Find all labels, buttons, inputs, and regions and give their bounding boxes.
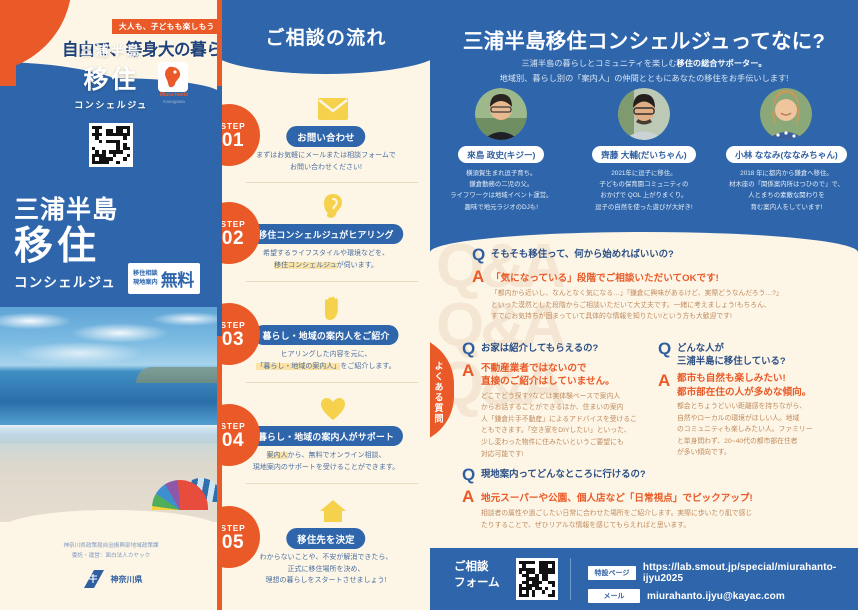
avatar [475,88,527,140]
answer-body-line2: 自然やローカルの環境がほしい人。地域 [677,413,813,425]
bio-line4: 趣味で地元ラジオのDJも! [431,202,571,213]
answer-body-line4: と単身問わず、20~40代の都市部在住者 [677,436,813,448]
contact-row-website: 特設ページ https://lab.smout.jp/special/miura… [588,562,858,584]
bio-line3: 人とまちの素敵な関わりを [716,190,856,201]
faq-answer: A 不動産業者ではないので 直接のご紹介はしていません。 どこでどう探す?などは… [462,362,656,460]
step-desc-line3: 理想の暮らしをスタートさせましょう! [228,575,424,587]
faq-section: Q&A Q&A Q&A よくある質問 Q そもそも移住って、何から始めればいいの… [430,232,858,548]
step-desc-line1: ヒアリングした内容を元に、 [228,349,424,361]
bio-line4: 育む案内人をしています! [716,202,856,213]
step-desc-line2: 現地案内のサポートを受けることができます。 [228,462,424,474]
step-desc-01: まずはお気軽にメールまたは相談フォームで お問い合わせください! [228,150,424,173]
step-desc-line1: まずはお気軽にメールまたは相談フォームで [228,150,424,162]
faq-answer-body: 「都内から近いし、なんとなく気になる…」「鎌倉に興味があるけど、実際どうなんだろ… [491,288,783,323]
subtitle-line1-a: 三浦半島の暮らしとコミュニティを楽しむ [521,59,676,68]
step-word: STEP [222,320,246,330]
step-pill-01: お問い合わせ [286,126,365,147]
step-separator [246,182,418,183]
step-number: 04 [222,431,244,450]
answer-mark-letter: A [658,372,671,389]
beach-photo [0,307,222,522]
answer-body-line1: 相談者の属性や過ごしたい日常に合わせた場所をご紹介します。実際に歩いたり肌で感じ [481,508,753,520]
bio-line1: 横須賀生まれ逗子育ち。 [431,168,571,179]
steps-heading: ご相談の流れ [222,23,430,50]
brochure-page: 大人も、子どもも楽しもう 自由で、等身大の暮らし。 Miura-hanto Ka… [0,0,858,610]
photo-overlay-line1: 三浦半島 [0,40,222,59]
heart-icon [318,396,348,422]
faq-answer: A 地元スーパーや公園、個人店など「日常視点」でピックアップ! 相談者の属性や過… [462,488,852,531]
faq-answer: A 都市も自然も楽しみたい! 都市部在住の人が多めな傾向。 都会とちょうどいい距… [658,372,852,459]
cover-title-line3: コンシェルジュ [14,271,118,291]
steps-panel: ご相談の流れ STEP 01 お問い合わせ まずはお気軽にメールまたは相談フォー… [222,0,430,610]
list-item: 小林 ななみ(ななみちゃん) 2018 年に都内から鎌倉へ移住。 材木座の「関係… [715,88,858,213]
step-desc-highlight: 移住コンシェルジュ [274,262,337,269]
concierge-bio: 横須賀生まれ逗子育ち。 鎌倉勤務の二児の父。 ライフワークは地域イベント運営。 … [431,168,571,213]
bio-line2: 鎌倉勤務の二児の父。 [431,179,571,190]
bio-line4: 逗子の自然を使った遊びが大好き! [574,202,714,213]
step-separator [246,382,418,383]
faq-question: Q 現地案内ってどんなところに行けるの? [462,466,852,483]
step-word: STEP [222,421,246,431]
step-pill-05: 移住先を決定 [286,528,365,549]
faq-question-text: 現地案内ってどんなところに行けるの? [481,466,646,481]
website-chip-label: 特設ページ [588,566,636,580]
concierge-name: 齊藤 大輔(だいちゃん) [592,146,695,163]
contact-label-line1: ご相談 [454,560,500,576]
question-mark-letter: Q [658,340,671,357]
faq-answer-head-line1: 都市も自然も楽しみたい! [677,372,813,385]
left-panel-blue-edge [217,86,222,336]
step-desc-highlight: 「暮らし・地域の案内人」 [256,363,340,370]
faq-item: Q そもそも移住って、何から始めればいいの? A 「気になっている」段階でご相談… [472,246,844,323]
faq-question: Q そもそも移住って、何から始めればいいの? [472,246,844,263]
surf-line [0,425,222,441]
house-icon [318,498,348,524]
contact-form-label: ご相談 フォーム [454,560,500,591]
concierge-bio: 2018 年に都内から鎌倉へ移住。 材木座の「関係案内所はつひので」で、 人とま… [716,168,856,213]
avatar [760,88,812,140]
step-desc-02: 希望するライフスタイルや環境などを、 移住コンシェルジュが伺います。 [228,248,424,271]
step-word: STEP [222,523,246,533]
step-pill-02: 移住コンシェルジュがヒアリング [249,224,403,244]
cover-title: 三浦半島 移住 コンシェルジュ [14,196,118,291]
answer-mark-letter: A [462,362,475,379]
credit-line2: 委託・運営：面白法人カヤック [0,552,222,562]
step-desc-line2: 「暮らし・地域の案内人」をご紹介します。 [228,361,424,373]
faq-answer: A 「気になっている」段階でご相談いただいてOKです! 「都内から近いし、なんと… [472,268,844,323]
headland-shape [136,367,222,383]
hand-icon [318,295,348,321]
info-panel-title: 三浦半島移住コンシェルジュってなに? [430,24,858,54]
contact-label-line2: フォーム [454,576,500,592]
step-desc-tail: をご紹介します。 [340,363,395,370]
free-badge: 移住相談 現地案内 無料 [128,263,200,294]
credit-text: 神奈川県政策局自治振興部地域政策課 委託・運営：面白法人カヤック [0,542,222,561]
subtitle-line1: 三浦半島の暮らしとコミュニティを楽しむ移住の総合サポーター。 [430,56,858,71]
bio-line1: 2021年に逗子に移住。 [574,168,714,179]
step-desc-04: 案内人から、無料でオンライン相談、 現地案内のサポートを受けることができます。 [228,450,424,473]
answer-body-line3: すでにお気持ちが固まっていて具体的な情報を知りたい!という方も大歓迎です! [491,311,783,323]
free-badge-big: 無料 [161,266,194,291]
step-desc-03: ヒアリングした内容を元に、 「暮らし・地域の案内人」をご紹介します。 [228,349,424,372]
answer-body-line1: どこでどう探す?などは実体験ベースで案内人 [481,391,637,403]
email-chip-label: メール [588,589,640,603]
faq-answer-head-line2: 都市部在住の人が多めな傾向。 [677,386,813,399]
step-number: 05 [222,533,244,552]
step-desc-line2: 正式に移住場所を決め、 [228,564,424,576]
faq-item: Q 現地案内ってどんなところに行けるの? A 地元スーパーや公園、個人店など「日… [462,466,852,531]
faq-answer-head: 「気になっている」段階でご相談いただいてOKです! [491,273,719,284]
step-desc-highlight: 案内人 [267,452,288,459]
answer-body-line1: 「都内から近いし、なんとなく気になる…」「鎌倉に興味があるけど、実際どうなんだろ… [491,288,783,300]
faq-answer-body: どこでどう探す?などは実体験ベースで案内人 からお話することができるほか、住まい… [481,391,637,460]
step-separator [246,483,418,484]
email-address[interactable]: miurahanto.ijyu@kayac.com [647,591,785,602]
free-badge-line2: 現地案内 [133,279,158,287]
faq-question: Q お家は紹介してもらえるの? [462,340,656,357]
qr-code[interactable] [516,558,558,600]
qr-code[interactable] [89,123,133,167]
footer-divider [570,558,571,600]
tagline-badge: 大人も、子どもも楽しもう [112,19,221,34]
question-mark-letter: Q [462,466,475,483]
concierge-name: 小林 ななみ(ななみちゃん) [726,146,847,163]
faq-answer-head: 地元スーパーや公園、個人店など「日常視点」でピックアップ! [481,493,753,504]
answer-body-line6: 対応可能です! [481,449,637,461]
free-badge-line1: 移住相談 [133,270,158,278]
miura-logo-sub: Kanagawa [163,99,185,104]
step-number: 02 [222,229,244,248]
cover-title-line1: 三浦半島 [14,196,118,224]
kanagawa-government-logo: 神奈川県 [0,569,222,589]
miura-peninsula-icon [158,62,188,92]
bio-line2: 材木座の「関係案内所はつひので」で、 [716,179,856,190]
step-desc-line2: 移住コンシェルジュが伺います。 [228,260,424,272]
step-pill-03: 暮らし・地域の案内人をご紹介 [253,325,398,345]
step-word: STEP [222,219,246,229]
faq-answer-body: 都会とちょうどいい距離感を持ちながら、 自然やローカルの環境がほしい人。地域 の… [677,401,813,459]
step-separator [246,281,418,282]
list-item: 齊藤 大輔(だいちゃん) 2021年に逗子に移住。 子どもの保育園コミュニティの… [573,88,716,213]
faq-question-text: そもそも移住って、何から始めればいいの? [491,246,674,261]
answer-body-line4: ともできます。「空き家をDIYしたい」といった、 [481,425,637,437]
contact-links: 特設ページ https://lab.smout.jp/special/miura… [588,562,858,608]
step-word: STEP [222,121,246,131]
faq-item: Q どんな人が 三浦半島に移住している? A 都市も自然も楽しみたい! 都市部在… [658,340,852,459]
bio-line3: ライフワークは地域イベント運営。 [431,190,571,201]
step-number: 01 [222,131,244,150]
step-number: 03 [222,330,244,349]
subtitle-line2: 地域別、暮らし別の「案内人」の仲間とともにあなたの移住をお手伝いします! [430,71,858,86]
answer-body-line2: といった漠然とした段階からご相談いただいて大丈夫です。一緒に考えましょう!もちろ… [491,300,783,312]
question-mark-letter: Q [462,340,475,357]
ear-icon [318,193,348,219]
answer-body-line3: のコミュニティも楽しみたい人。ファミリー [677,424,813,436]
step-desc-line1: 案内人から、無料でオンライン相談、 [228,450,424,462]
contact-row-email: メール miurahanto.ijyu@kayac.com [588,589,858,603]
faq-question-line1: どんな人が [677,342,786,355]
subtitle-line1-b: 移住の総合サポーター。 [677,59,767,68]
miura-logo-text: Miura-hanto Kanagawa [146,92,202,105]
concierge-list: 來島 政史(キジー) 横須賀生まれ逗子育ち。 鎌倉勤務の二児の父。 ライフワーク… [430,88,858,213]
answer-mark-letter: A [472,268,485,285]
answer-body-line5: が多い傾向です。 [677,447,813,459]
left-cover-panel: 大人も、子どもも楽しもう 自由で、等身大の暮らし。 Miura-hanto Ka… [0,0,222,610]
faq-vertical-label: よくある質問 [430,350,452,434]
avatar [618,88,670,140]
faq-answer-body: 相談者の属性や過ごしたい日常に合わせた場所をご紹介します。実際に歩いたり肌で感じ… [481,508,753,531]
step-desc-05: わからないことや、不安が解消できたら、 正式に移住場所を決め、 理想の暮らしをス… [228,552,424,587]
step-desc-line1: 希望するライフスタイルや環境などを、 [228,248,424,260]
faq-question-text: お家は紹介してもらえるの? [481,340,598,355]
step-pill-04: 暮らし・地域の案内人がサポート [249,426,403,446]
step-desc-tail: が伺います。 [337,262,378,269]
faq-answer-head-line2: 直接のご紹介はしていません。 [481,375,637,388]
kanagawa-mark-icon [80,569,106,589]
question-mark-letter: Q [472,246,485,263]
step-desc-line2: お問い合わせください! [228,162,424,174]
answer-body-line5: 少し変わった物件に住みたいというご要望にも [481,437,637,449]
step-desc-line1: わからないことや、不安が解消できたら、 [228,552,424,564]
bio-line3: おかげで QOL 上がりまくり。 [574,190,714,201]
answer-mark-letter: A [462,488,475,505]
concierge-bio: 2021年に逗子に移住。 子どもの保育園コミュニティの おかげで QOL 上がり… [574,168,714,213]
mail-icon [318,96,348,122]
photo-overlay-line2: 移住 [0,60,222,96]
answer-body-line3: 人「鎌倉片手不動産」によるアドバイスを受けるこ [481,414,637,426]
bio-line2: 子どもの保育園コミュニティの [574,179,714,190]
answer-body-line2: からお話することができるほか、住まいの案内 [481,402,637,414]
faq-question-line2: 三浦半島に移住している? [677,355,786,368]
answer-body-line2: たりすることで、ぜひリアルな情報を感じてもらえればと思います。 [481,520,753,532]
info-panel: 三浦半島移住コンシェルジュってなに? 三浦半島の暮らしとコミュニティを楽しむ移住… [430,0,858,610]
step-desc-tail: から、無料でオンライン相談、 [288,452,386,459]
info-panel-subtitle: 三浦半島の暮らしとコミュニティを楽しむ移住の総合サポーター。 地域別、暮らし別の… [430,56,858,86]
miura-logo-name: Miura-hanto [160,92,189,98]
answer-body-line1: 都会とちょうどいい距離感を持ちながら、 [677,401,813,413]
faq-item: Q お家は紹介してもらえるの? A 不動産業者ではないので 直接のご紹介はしてい… [462,340,656,460]
credit-line1: 神奈川県政策局自治振興部地域政策課 [0,542,222,552]
faq-answer-head-line1: 不動産業者ではないので [481,362,637,375]
concierge-name: 來島 政史(キジー) [458,146,544,163]
gov-name-label: 神奈川県 [111,574,143,585]
faq-question: Q どんな人が 三浦半島に移住している? [658,340,852,367]
website-url[interactable]: https://lab.smout.jp/special/miurahanto-… [643,562,858,584]
bio-line1: 2018 年に都内から鎌倉へ移住。 [716,168,856,179]
cover-title-line2: 移住 [14,225,118,269]
list-item: 來島 政史(キジー) 横須賀生まれ逗子育ち。 鎌倉勤務の二児の父。 ライフワーク… [430,88,573,213]
